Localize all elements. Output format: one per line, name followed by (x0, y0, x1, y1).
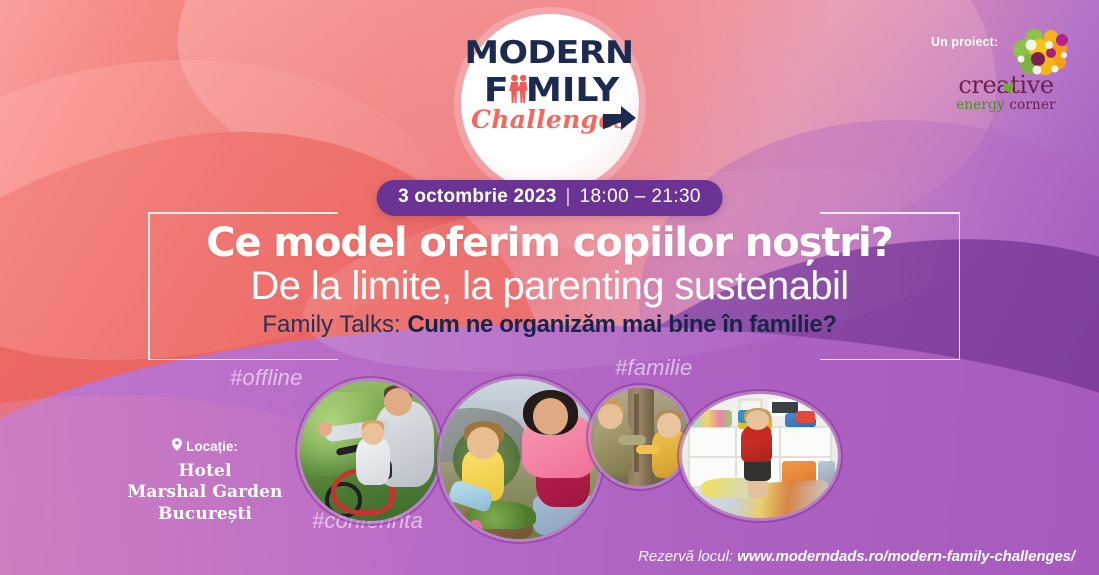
photo-dad-child-bicycle (300, 381, 440, 521)
location-pin-icon (172, 438, 182, 454)
event-date-badge: 3 octombrie 2023 | 18:00 – 21:30 (376, 180, 723, 216)
location-heading: Locație: (105, 438, 305, 454)
partner-label: Un proiect: (931, 35, 998, 49)
logo-modern-text: MODERN (457, 39, 641, 69)
headline-secondary: De la limite, la parenting sustenabil (0, 264, 1099, 309)
photo-toddler-playroom-shelf (682, 394, 838, 518)
arrow-right-icon (603, 96, 637, 141)
registration-footer[interactable]: Rezervă locul: www.moderndads.ro/modern-… (638, 548, 1075, 565)
logo-family-pre: F (484, 70, 509, 109)
location-address: Hotel Marshal Garden București (105, 461, 305, 525)
partner-wordmark: creative energy corner (935, 74, 1077, 113)
partner-logo-block: Un proiect: (931, 30, 1077, 110)
event-time: 18:00 – 21:30 (579, 186, 700, 208)
headline-block: Ce model oferim copiilor noștri? De la l… (0, 222, 1099, 340)
modern-family-challenges-logo: MODERN F MILY (461, 14, 639, 192)
headline-tertiary: Family Talks: Cum ne organizăm mai bine … (0, 311, 1099, 340)
location-city: București (105, 504, 305, 525)
photo-mother-daughter-gardening (440, 379, 600, 539)
family-talks-topic: Cum ne organizăm mai bine în familie? (407, 311, 836, 338)
photo-children-hugging-tree (591, 388, 689, 486)
partner-corner-text: corner (1009, 97, 1055, 113)
event-date: 3 octombrie 2023 (398, 186, 556, 208)
hashtag-offline: #offline (230, 365, 303, 391)
location-block: Locație: Hotel Marshal Garden București (105, 438, 305, 525)
headline-primary: Ce model oferim copiilor noștri? (0, 222, 1099, 265)
logo-family-row: F MILY (469, 70, 631, 109)
location-venue-line2: Marshal Garden (105, 482, 305, 503)
heart-icon (1002, 81, 1015, 99)
event-banner: Un proiect: (0, 0, 1099, 575)
registration-label: Rezervă locul: (638, 548, 733, 565)
family-talks-label: Family Talks: (262, 311, 400, 338)
partner-energy-text: energy (956, 97, 1005, 113)
location-label: Locație: (186, 439, 238, 454)
partner-tagline: energy corner (935, 99, 1077, 113)
registration-url[interactable]: www.moderndads.ro/modern-family-challeng… (737, 548, 1075, 565)
date-separator: | (566, 186, 571, 208)
location-venue-line1: Hotel (105, 461, 305, 482)
hashtag-familie: #familie (615, 355, 692, 381)
